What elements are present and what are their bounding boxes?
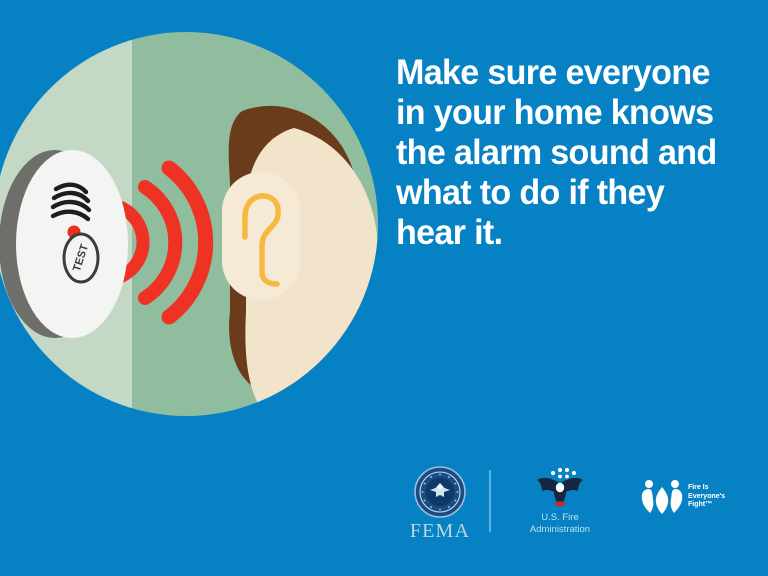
alarm-test-button: TEST: [64, 234, 98, 282]
usfa-logo: U.S. Fire Administration: [505, 466, 615, 535]
fief-figures-icon: [640, 478, 684, 514]
smoke-alarm: TEST: [0, 150, 128, 338]
usfa-eagle-icon: [529, 466, 591, 510]
fire-safety-poster: TEST Make sure everyone in your home kno…: [0, 0, 768, 576]
ear: [222, 172, 300, 300]
fief-wordmark: Fire Is Everyone's Fight™: [688, 483, 725, 509]
fema-seal-icon: [414, 466, 466, 518]
smoke-alarm-illustration: TEST: [0, 32, 378, 416]
eagle-stars: [551, 468, 576, 479]
eagle-head: [556, 483, 564, 493]
usfa-wordmark: U.S. Fire Administration: [505, 512, 615, 535]
fema-wordmark: FEMA: [395, 521, 485, 541]
logo-divider: [489, 470, 491, 532]
fire-is-everyones-fight-logo: Fire Is Everyone's Fight™: [640, 478, 750, 514]
page-headline: Make sure everyone in your home knows th…: [396, 52, 732, 253]
fema-logo: FEMA: [395, 466, 485, 541]
eagle-flame: [554, 502, 566, 507]
logo-bar: FEMA U.S. Fi: [385, 462, 745, 552]
